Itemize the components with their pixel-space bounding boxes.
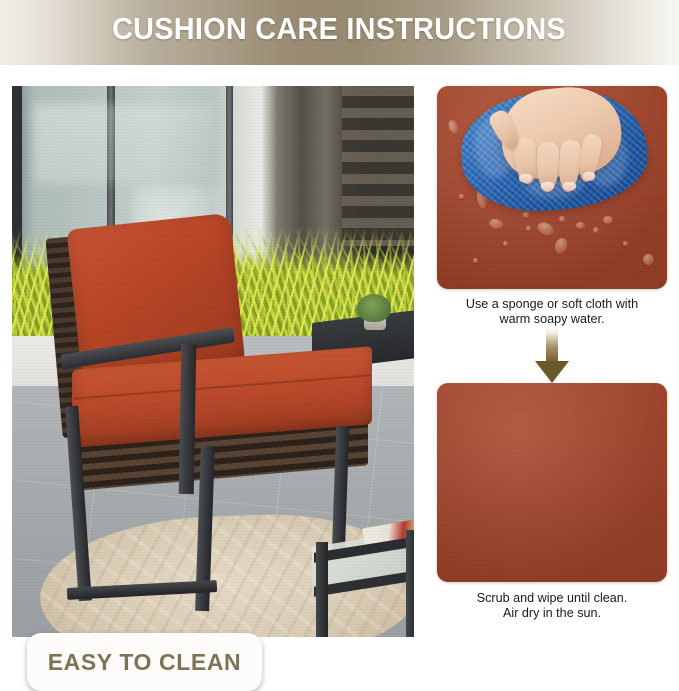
- down-arrow-icon: [535, 361, 569, 383]
- sponge-step-caption: Use a sponge or soft cloth with warm soa…: [437, 297, 667, 327]
- step-flow-arrow: [437, 327, 667, 383]
- sponge-step-caption-line2: warm soapy water.: [437, 312, 667, 327]
- side-table-leg-right: [406, 530, 414, 637]
- header-title-container: CUSHION CARE INSTRUCTIONS: [0, 0, 679, 58]
- sponge-step-image: [437, 86, 667, 289]
- scrub-dry-step-caption: Scrub and wipe until clean. Air dry in t…: [437, 591, 667, 621]
- fingernail: [583, 172, 595, 181]
- sponge-step-caption-line1: Use a sponge or soft cloth with: [437, 297, 667, 312]
- water-droplet: [473, 258, 478, 263]
- side-table-leg-left: [316, 542, 328, 637]
- water-droplet: [523, 212, 529, 218]
- page-title: CUSHION CARE INSTRUCTIONS: [113, 11, 567, 47]
- content-area: EASY TO CLEAN: [0, 65, 679, 642]
- easy-to-clean-label: EASY TO CLEAN: [48, 649, 242, 676]
- fingernail: [519, 174, 532, 183]
- header-banner: CUSHION CARE INSTRUCTIONS: [0, 0, 679, 65]
- water-droplet: [593, 227, 599, 233]
- window-reflection: [34, 104, 214, 184]
- water-droplet: [623, 241, 628, 246]
- patio-chair-photo: [12, 86, 414, 637]
- chair-arm-post: [179, 344, 197, 494]
- water-droplet: [559, 216, 565, 222]
- potted-plant: [357, 294, 391, 322]
- water-droplet: [526, 226, 531, 231]
- fabric-sheen: [437, 383, 667, 582]
- water-droplet: [603, 216, 613, 224]
- scrub-dry-step-caption-line1: Scrub and wipe until clean.: [437, 591, 667, 606]
- water-droplet: [459, 194, 464, 199]
- wood-slat-wall: [342, 86, 414, 246]
- care-steps-column: Use a sponge or soft cloth with warm soa…: [437, 86, 667, 642]
- fingernail: [563, 182, 576, 191]
- water-droplet: [643, 254, 654, 265]
- water-droplet: [503, 241, 508, 246]
- fingernail: [541, 182, 554, 191]
- scrub-dry-step-caption-line2: Air dry in the sun.: [437, 606, 667, 621]
- scrub-dry-step-image: [437, 383, 667, 582]
- water-droplet: [576, 222, 585, 229]
- down-arrow-icon-shaft: [546, 327, 558, 363]
